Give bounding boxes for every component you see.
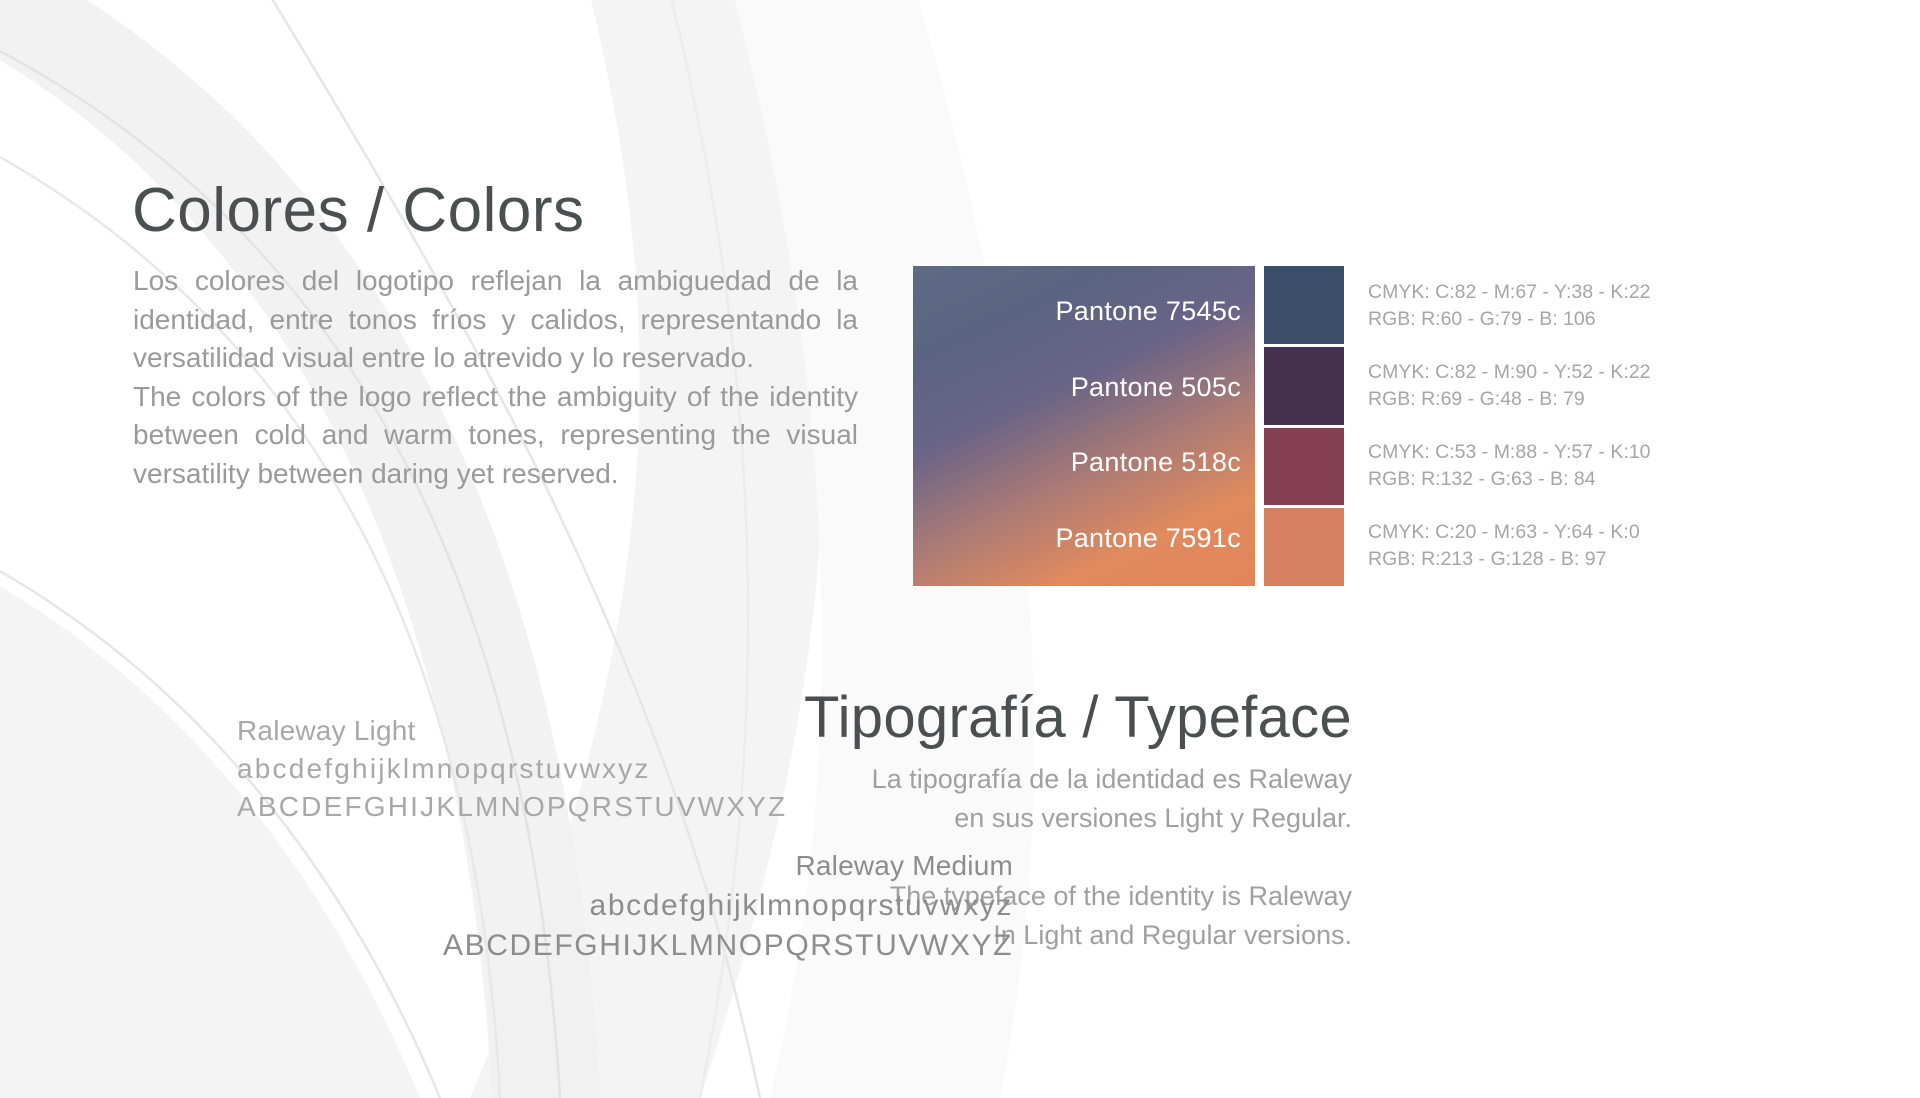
colors-description: Los colores del logotipo reflejan la amb… xyxy=(133,262,858,493)
gradient-label-pantone-518c: Pantone 518c xyxy=(913,449,1241,476)
swatch-pantone-518c xyxy=(1264,428,1344,506)
specimen-medium-uppercase: ABCDEFGHIJKLMNOPQRSTUVWXYZ xyxy=(330,926,1013,966)
rgb-value: RGB: R:213 - G:128 - B: 97 xyxy=(1368,546,1748,573)
color-values-column: CMYK: C:82 - M:67 - Y:38 - K:22 RGB: R:6… xyxy=(1368,266,1748,586)
swatch-column xyxy=(1264,266,1344,586)
swatch-pantone-7591c xyxy=(1264,508,1344,586)
specimen-medium-lowercase: abcdefghijklmnopqrstuvwxyz xyxy=(330,886,1013,926)
specimen-light-uppercase: ABCDEFGHIJKLMNOPQRSTUVWXYZ xyxy=(237,788,787,826)
swatch-pantone-7545c xyxy=(1264,266,1344,344)
swatch-pantone-505c xyxy=(1264,347,1344,425)
specimen-medium-name: Raleway Medium xyxy=(330,846,1013,886)
color-values-pantone-518c: CMYK: C:53 - M:88 - Y:57 - K:10 RGB: R:1… xyxy=(1368,426,1748,506)
gradient-label-pantone-7591c: Pantone 7591c xyxy=(913,525,1241,552)
specimen-light-lowercase: abcdefghijklmnopqrstuvwxyz xyxy=(237,750,787,788)
brand-gradient-panel: Pantone 7545c Pantone 505c Pantone 518c … xyxy=(913,266,1255,586)
gradient-label-pantone-505c: Pantone 505c xyxy=(913,374,1241,401)
rgb-value: RGB: R:60 - G:79 - B: 106 xyxy=(1368,306,1748,333)
typeface-section-title: Tipografía / Typeface xyxy=(804,684,1352,751)
typeface-description-en-line2: In Light and Regular versions. xyxy=(993,920,1352,950)
typeface-description-es-line2: en sus versiones Light y Regular. xyxy=(954,803,1352,833)
specimen-raleway-light: Raleway Light abcdefghijklmnopqrstuvwxyz… xyxy=(237,712,787,826)
colors-description-es: Los colores del logotipo reflejan la amb… xyxy=(133,262,858,378)
rgb-value: RGB: R:69 - G:48 - B: 79 xyxy=(1368,386,1748,413)
brand-guide-slide: Colores / Colors Los colores del logotip… xyxy=(0,0,1920,1098)
colors-description-en: The colors of the logo reflect the ambig… xyxy=(133,378,858,494)
color-values-pantone-7591c: CMYK: C:20 - M:63 - Y:64 - K:0 RGB: R:21… xyxy=(1368,506,1748,586)
page-title: Colores / Colors xyxy=(132,175,584,246)
rgb-value: RGB: R:132 - G:63 - B: 84 xyxy=(1368,466,1748,493)
cmyk-value: CMYK: C:82 - M:67 - Y:38 - K:22 xyxy=(1368,279,1748,306)
cmyk-value: CMYK: C:20 - M:63 - Y:64 - K:0 xyxy=(1368,519,1748,546)
cmyk-value: CMYK: C:53 - M:88 - Y:57 - K:10 xyxy=(1368,439,1748,466)
typeface-description-es-line1: La tipografía de la identidad es Raleway xyxy=(872,764,1352,794)
specimen-raleway-medium: Raleway Medium abcdefghijklmnopqrstuvwxy… xyxy=(330,846,1013,966)
color-specification-block: Pantone 7545c Pantone 505c Pantone 518c … xyxy=(913,266,1748,586)
color-values-pantone-505c: CMYK: C:82 - M:90 - Y:52 - K:22 RGB: R:6… xyxy=(1368,346,1748,426)
specimen-light-name: Raleway Light xyxy=(237,712,787,750)
gradient-label-pantone-7545c: Pantone 7545c xyxy=(913,298,1241,325)
cmyk-value: CMYK: C:82 - M:90 - Y:52 - K:22 xyxy=(1368,359,1748,386)
color-values-pantone-7545c: CMYK: C:82 - M:67 - Y:38 - K:22 RGB: R:6… xyxy=(1368,266,1748,346)
